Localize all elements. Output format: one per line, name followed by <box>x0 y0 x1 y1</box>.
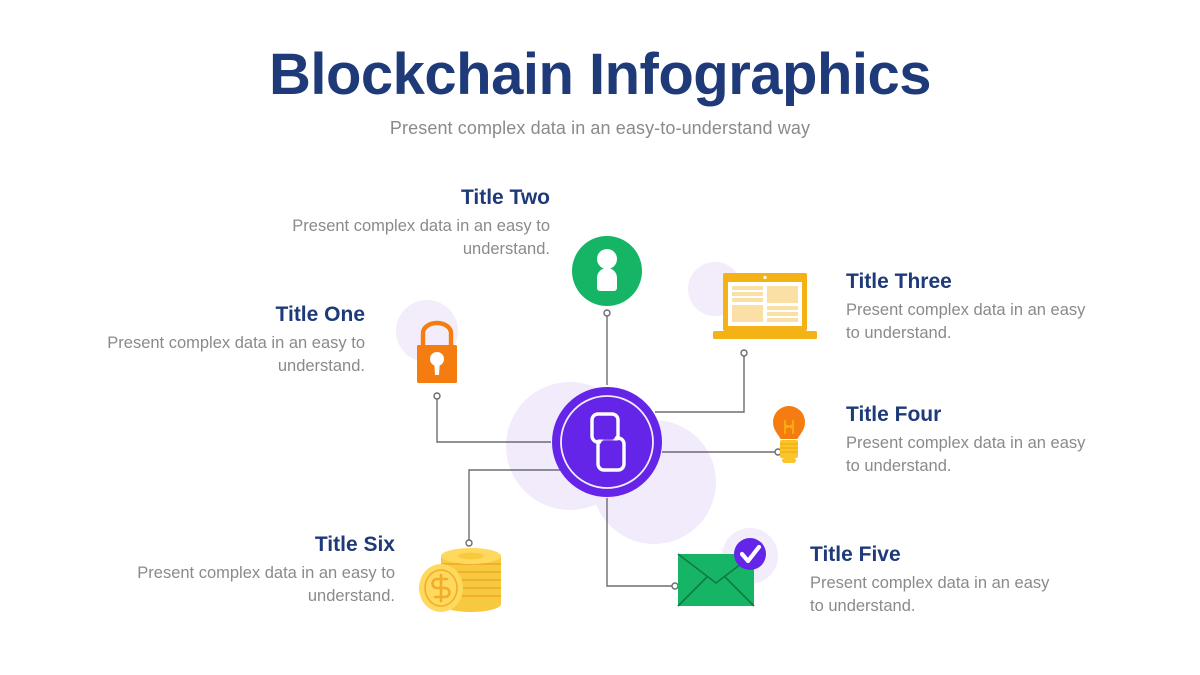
node-one-desc: Present complex data in an easy to under… <box>95 332 365 378</box>
node-three-text: Title Three Present complex data in an e… <box>846 270 1096 345</box>
wire-endpoint-three <box>741 350 747 356</box>
node-two-text: Title Two Present complex data in an eas… <box>280 186 550 261</box>
infographic-slide: Blockchain Infographics Present complex … <box>0 0 1200 675</box>
envelope-check-icon <box>676 536 772 612</box>
node-two-desc: Present complex data in an easy to under… <box>280 215 550 261</box>
node-five-text: Title Five Present complex data in an ea… <box>810 543 1060 618</box>
lightbulb-icon <box>768 404 810 466</box>
user-circle-icon <box>572 236 642 306</box>
node-one-text: Title One Present complex data in an eas… <box>95 303 365 378</box>
laptop-icon <box>709 271 821 347</box>
node-three-desc: Present complex data in an easy to under… <box>846 299 1096 345</box>
node-four-text: Title Four Present complex data in an ea… <box>846 403 1096 478</box>
page-title: Blockchain Infographics <box>0 45 1200 106</box>
wire-endpoint-two <box>604 310 610 316</box>
node-two-title: Title Two <box>280 186 550 209</box>
node-six-title: Title Six <box>130 533 395 556</box>
center-hub[interactable] <box>551 386 663 498</box>
node-five-title: Title Five <box>810 543 1060 566</box>
node-one-title: Title One <box>95 303 365 326</box>
padlock-icon <box>408 316 466 388</box>
blockchain-b-coin-icon <box>551 386 663 498</box>
node-four-title: Title Four <box>846 403 1096 426</box>
wire-endpoint-one <box>434 393 440 399</box>
node-one-icon[interactable] <box>408 316 466 388</box>
node-six-text: Title Six Present complex data in an eas… <box>130 533 395 608</box>
node-six-desc: Present complex data in an easy to under… <box>130 562 395 608</box>
node-four-desc: Present complex data in an easy to under… <box>846 432 1096 478</box>
header: Blockchain Infographics Present complex … <box>0 45 1200 139</box>
node-two-icon[interactable] <box>572 236 642 306</box>
page-subtitle: Present complex data in an easy-to-under… <box>0 118 1200 139</box>
coins-stack-icon <box>415 544 511 620</box>
node-three-icon[interactable] <box>709 271 821 347</box>
node-six-icon[interactable] <box>415 544 511 620</box>
node-five-icon[interactable] <box>676 536 772 612</box>
node-three-title: Title Three <box>846 270 1096 293</box>
node-four-icon[interactable] <box>768 404 810 466</box>
node-five-desc: Present complex data in an easy to under… <box>810 572 1060 618</box>
